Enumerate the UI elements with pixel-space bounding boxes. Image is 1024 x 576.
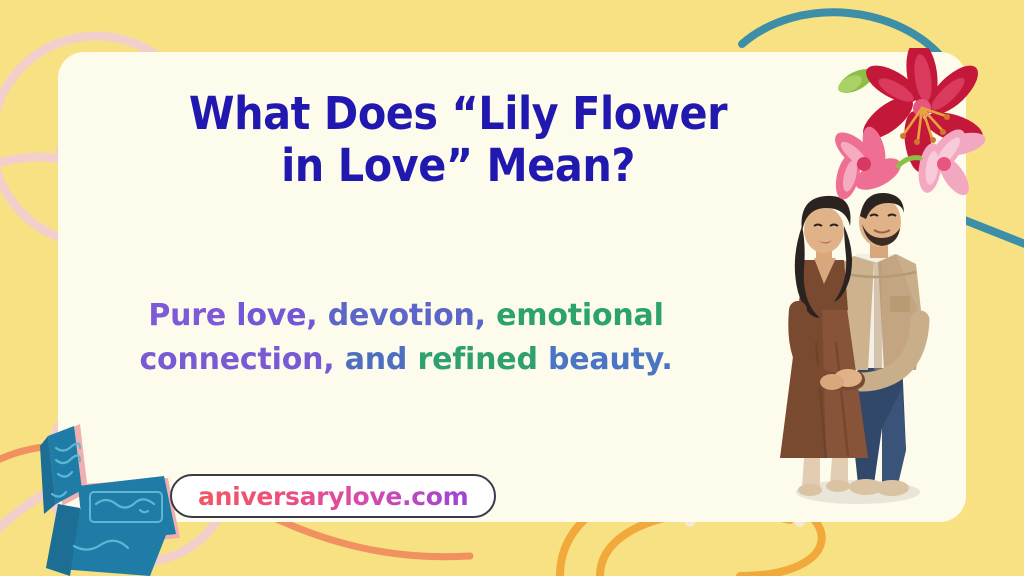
page-title: What Does “Lily Flower in Love” Mean? bbox=[145, 88, 771, 192]
body-text: Pure love, devotion, emotional connectio… bbox=[86, 294, 726, 383]
couple-illustration bbox=[770, 192, 938, 522]
body-word-2: devotion, bbox=[328, 298, 486, 333]
jacket-pocket bbox=[890, 296, 910, 312]
title-line-1: What Does “Lily Flower bbox=[145, 88, 771, 140]
body-word-7: beauty. bbox=[548, 342, 673, 377]
body-word-3: emotional bbox=[496, 298, 664, 333]
lily-bloom-left bbox=[829, 124, 906, 202]
open-book-illustration bbox=[18, 418, 194, 576]
body-word-6: refined bbox=[417, 342, 537, 377]
woman-boot-left bbox=[802, 458, 820, 488]
lily-flower-illustration bbox=[826, 48, 994, 210]
body-word-0: Pure bbox=[148, 298, 226, 333]
body-word-5: and bbox=[345, 342, 407, 377]
poster-canvas: What Does “Lily Flower in Love” Mean? Pu… bbox=[0, 0, 1024, 576]
website-url-badge[interactable]: aniversarylove.com bbox=[170, 474, 496, 518]
body-word-1: love, bbox=[236, 298, 317, 333]
body-word-4: connection, bbox=[139, 342, 334, 377]
website-url-text: aniversarylove.com bbox=[198, 482, 468, 511]
title-line-2: in Love” Mean? bbox=[145, 140, 771, 192]
man-shoe-right bbox=[875, 480, 909, 496]
